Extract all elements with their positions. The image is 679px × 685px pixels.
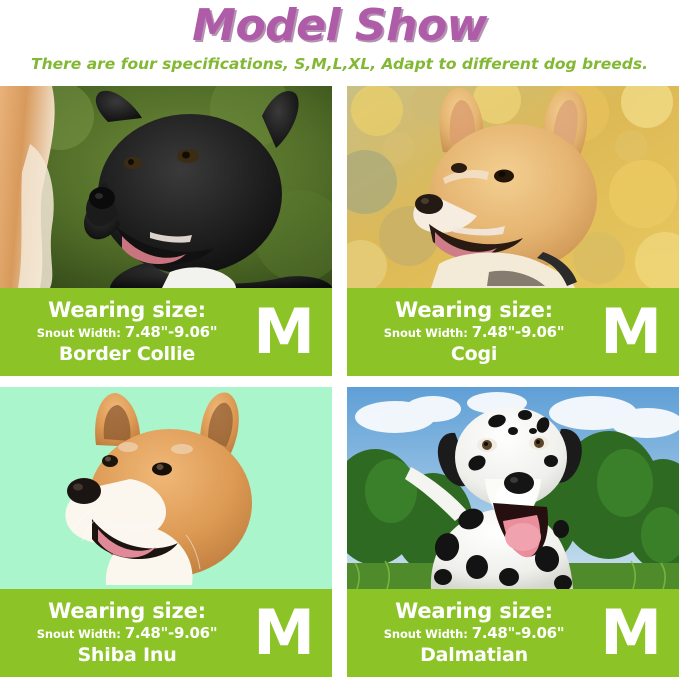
breed-name: Shiba Inu (77, 643, 176, 667)
wearing-size-label: Wearing size: (48, 599, 206, 624)
page-title: Model Show (0, 2, 679, 52)
size-letter-badge: M (253, 602, 314, 664)
snout-width-label: Snout Width: (37, 627, 121, 642)
page-header: Model Show There are four specifications… (0, 0, 679, 80)
wearing-size-band: Wearing size: Snout Width: 7.48"-9.06" S… (0, 589, 332, 677)
wearing-size-text-block: Wearing size: Snout Width: 7.48"-9.06" C… (347, 288, 595, 376)
page-subtitle: There are four specifications, S,M,L,XL,… (0, 52, 679, 80)
size-letter-badge: M (253, 301, 314, 363)
wearing-size-text-block: Wearing size: Snout Width: 7.48"-9.06" B… (0, 288, 248, 376)
breed-card[interactable]: Wearing size: Snout Width: 7.48"-9.06" S… (0, 387, 332, 677)
breed-photo-shiba-inu (0, 387, 332, 589)
wearing-size-label: Wearing size: (395, 298, 553, 323)
breed-card[interactable]: Wearing size: Snout Width: 7.48"-9.06" B… (0, 86, 332, 376)
wearing-size-band: Wearing size: Snout Width: 7.48"-9.06" C… (347, 288, 679, 376)
snout-width-row: Snout Width: 7.48"-9.06" (37, 324, 218, 341)
size-letter-badge: M (600, 602, 661, 664)
breed-name: Cogi (451, 342, 497, 366)
cogi-photo-illustration (347, 86, 679, 288)
dalmatian-photo-illustration (347, 387, 679, 589)
wearing-size-label: Wearing size: (395, 599, 553, 624)
snout-width-value: 7.48"-9.06" (125, 324, 218, 340)
snout-width-value: 7.48"-9.06" (472, 625, 565, 641)
breed-name: Dalmatian (420, 643, 528, 667)
snout-width-label: Snout Width: (37, 326, 121, 341)
snout-width-value: 7.48"-9.06" (125, 625, 218, 641)
wearing-size-label: Wearing size: (48, 298, 206, 323)
wearing-size-band: Wearing size: Snout Width: 7.48"-9.06" D… (347, 589, 679, 677)
breed-card[interactable]: Wearing size: Snout Width: 7.48"-9.06" D… (347, 387, 679, 677)
breed-card-grid: Wearing size: Snout Width: 7.48"-9.06" B… (0, 86, 679, 677)
border-collie-photo-illustration (0, 86, 332, 288)
snout-width-row: Snout Width: 7.48"-9.06" (37, 625, 218, 642)
wearing-size-text-block: Wearing size: Snout Width: 7.48"-9.06" S… (0, 589, 248, 677)
model-show-page: Model Show There are four specifications… (0, 0, 679, 685)
wearing-size-band: Wearing size: Snout Width: 7.48"-9.06" B… (0, 288, 332, 376)
snout-width-label: Snout Width: (384, 326, 468, 341)
size-letter-badge: M (600, 301, 661, 363)
wearing-size-text-block: Wearing size: Snout Width: 7.48"-9.06" D… (347, 589, 595, 677)
breed-photo-border-collie (0, 86, 332, 288)
breed-photo-cogi (347, 86, 679, 288)
snout-width-value: 7.48"-9.06" (472, 324, 565, 340)
shiba-inu-photo-illustration (0, 387, 332, 589)
breed-card[interactable]: Wearing size: Snout Width: 7.48"-9.06" C… (347, 86, 679, 376)
snout-width-row: Snout Width: 7.48"-9.06" (384, 324, 565, 341)
snout-width-row: Snout Width: 7.48"-9.06" (384, 625, 565, 642)
snout-width-label: Snout Width: (384, 627, 468, 642)
breed-photo-dalmatian (347, 387, 679, 589)
breed-name: Border Collie (59, 342, 195, 366)
